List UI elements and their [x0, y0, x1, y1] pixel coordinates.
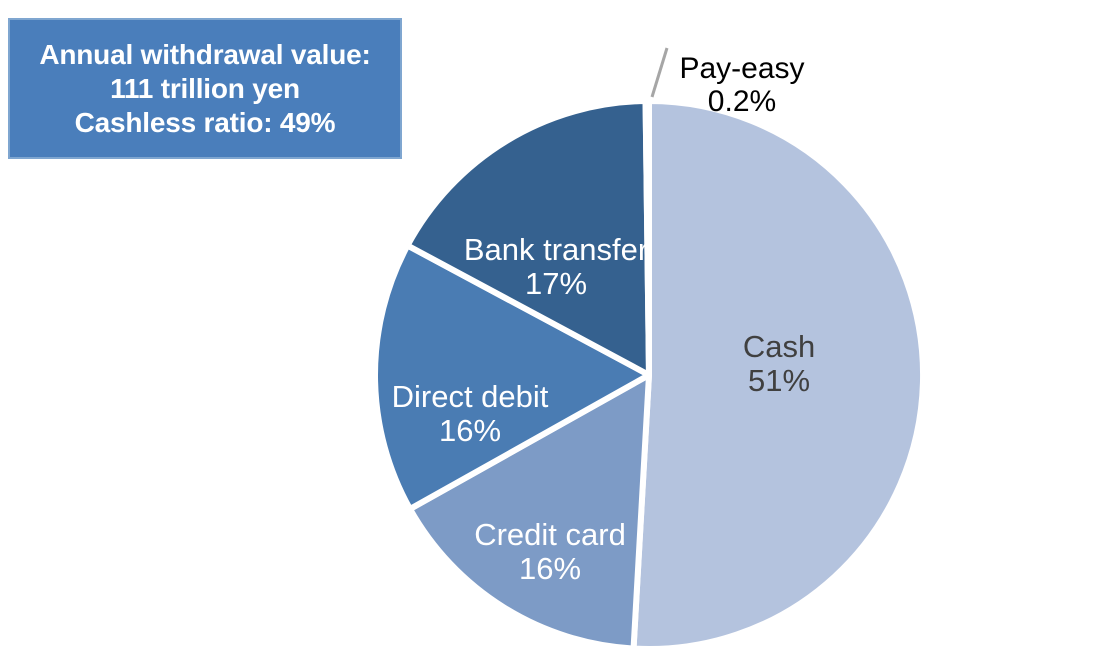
- pie-slice-pay-easy[interactable]: [646, 101, 649, 375]
- pay-easy-leader-line: [652, 48, 667, 97]
- pie-chart: [0, 0, 1120, 668]
- chart-canvas: Annual withdrawal value: 111 trillion ye…: [0, 0, 1120, 668]
- pie-slice-cash[interactable]: [634, 101, 924, 649]
- pie-slice-group: [375, 101, 923, 649]
